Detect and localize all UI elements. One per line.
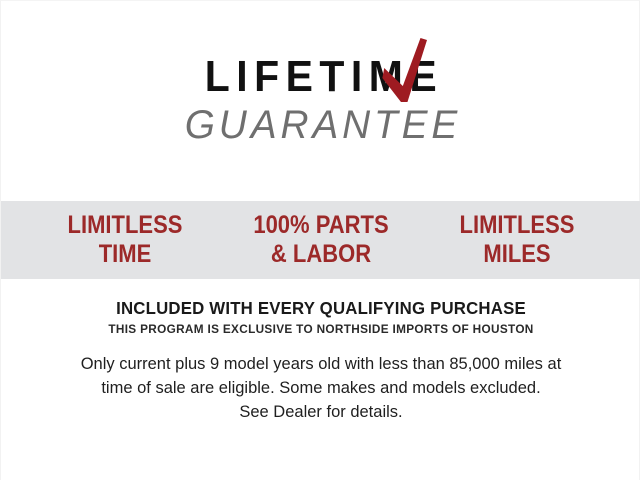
banner-column-limitless-miles: LIMITLESS MILES bbox=[431, 211, 603, 269]
logo-lifetime-wordmark: LIFETIME bbox=[199, 53, 444, 101]
info-block: INCLUDED WITH EVERY QUALIFYING PURCHASE … bbox=[1, 297, 640, 424]
banner-column-limitless-time: LIMITLESS TIME bbox=[39, 211, 211, 269]
banner-column-line1: LIMITLESS bbox=[68, 211, 183, 239]
banner-column-line2: & LABOR bbox=[235, 240, 407, 269]
fineprint-line: See Dealer for details. bbox=[1, 400, 640, 424]
banner-column-line2: MILES bbox=[431, 240, 603, 269]
banner-column-line2: TIME bbox=[39, 240, 211, 269]
banner-column-line1: 100% PARTS bbox=[253, 211, 388, 239]
banner-column-line1: LIMITLESS bbox=[460, 211, 575, 239]
lifetime-guarantee-ad: LIFETIME GUARANTEE LIMITLESS TIME 100% P… bbox=[0, 0, 640, 480]
fineprint: Only current plus 9 model years old with… bbox=[1, 352, 640, 424]
subheadline: THIS PROGRAM IS EXCLUSIVE TO NORTHSIDE I… bbox=[17, 319, 625, 339]
logo-block: LIFETIME GUARANTEE bbox=[1, 53, 640, 147]
logo-guarantee-text: GUARANTEE bbox=[11, 103, 632, 147]
feature-banner: LIMITLESS TIME 100% PARTS & LABOR LIMITL… bbox=[1, 201, 640, 279]
fineprint-line: Only current plus 9 model years old with… bbox=[1, 352, 640, 376]
fineprint-line: time of sale are eligible. Some makes an… bbox=[1, 376, 640, 400]
banner-column-parts-labor: 100% PARTS & LABOR bbox=[235, 211, 407, 269]
logo-lifetime-text: LIFETIME bbox=[205, 52, 443, 101]
headline: INCLUDED WITH EVERY QUALIFYING PURCHASE bbox=[14, 297, 628, 319]
